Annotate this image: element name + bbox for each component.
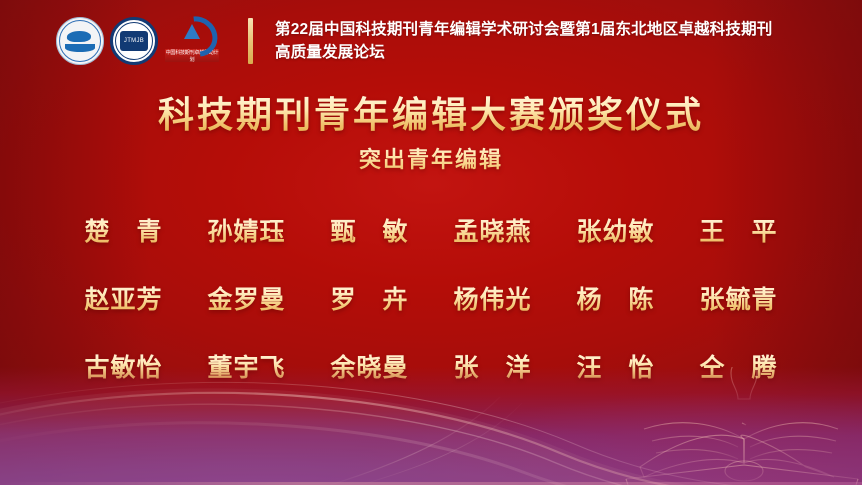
lightbulb-icon — [731, 367, 757, 425]
journal-seal-logo: JTMJB — [110, 17, 158, 65]
awardee-name: 金罗曼 — [185, 280, 308, 316]
awardee-name: 孙婧珏 — [185, 212, 308, 248]
awardee-name: 甄 敏 — [308, 212, 431, 248]
conference-title-line1: 第22届中国科技期刊青年编辑学术研讨会暨第1届东北地区卓越科技期刊 — [275, 18, 772, 41]
awardee-name: 赵亚芳 — [62, 280, 185, 316]
gold-divider — [248, 18, 253, 64]
swoosh-icon — [172, 16, 212, 48]
awardee-name: 楚 青 — [62, 212, 185, 248]
page-title: 科技期刊青年编辑大赛颁奖仪式 — [0, 92, 862, 138]
awardee-name: 张毓青 — [677, 280, 800, 316]
footer-light-streaks — [0, 367, 862, 485]
award-ceremony-slide: JTMJB 中国科技期刊卓越行动计划 第22届中国科技期刊青年编辑学术研讨会暨第… — [0, 0, 862, 485]
awardee-name: 张幼敏 — [554, 212, 677, 248]
conference-title: 第22届中国科技期刊青年编辑学术研讨会暨第1届东北地区卓越科技期刊 高质量发展论… — [275, 18, 772, 64]
excellence-action-plan-logo: 中国科技期刊卓越行动计划 — [164, 16, 220, 66]
title-block: 科技期刊青年编辑大赛颁奖仪式 突出青年编辑 — [0, 92, 862, 174]
awardee-name: 杨伟光 — [431, 280, 554, 316]
page-subtitle: 突出青年编辑 — [0, 142, 862, 174]
awardee-name: 杨 陈 — [554, 280, 677, 316]
awardee-row: 赵亚芳 金罗曼 罗 卉 杨伟光 杨 陈 张毓青 — [62, 264, 800, 332]
open-book-icon — [626, 423, 858, 485]
conference-title-line2: 高质量发展论坛 — [275, 41, 772, 64]
awardee-name: 孟晓燕 — [431, 212, 554, 248]
awardee-name: 罗 卉 — [308, 280, 431, 316]
journal-seal-logo-text: JTMJB — [120, 31, 148, 51]
cesp-logo — [56, 17, 104, 65]
slide-header: JTMJB 中国科技期刊卓越行动计划 第22届中国科技期刊青年编辑学术研讨会暨第… — [0, 0, 862, 82]
logo-group: JTMJB 中国科技期刊卓越行动计划 — [56, 16, 220, 66]
footer-decoration — [0, 367, 862, 485]
awardee-row: 楚 青 孙婧珏 甄 敏 孟晓燕 张幼敏 王 平 — [62, 196, 800, 264]
awardee-name: 王 平 — [677, 212, 800, 248]
